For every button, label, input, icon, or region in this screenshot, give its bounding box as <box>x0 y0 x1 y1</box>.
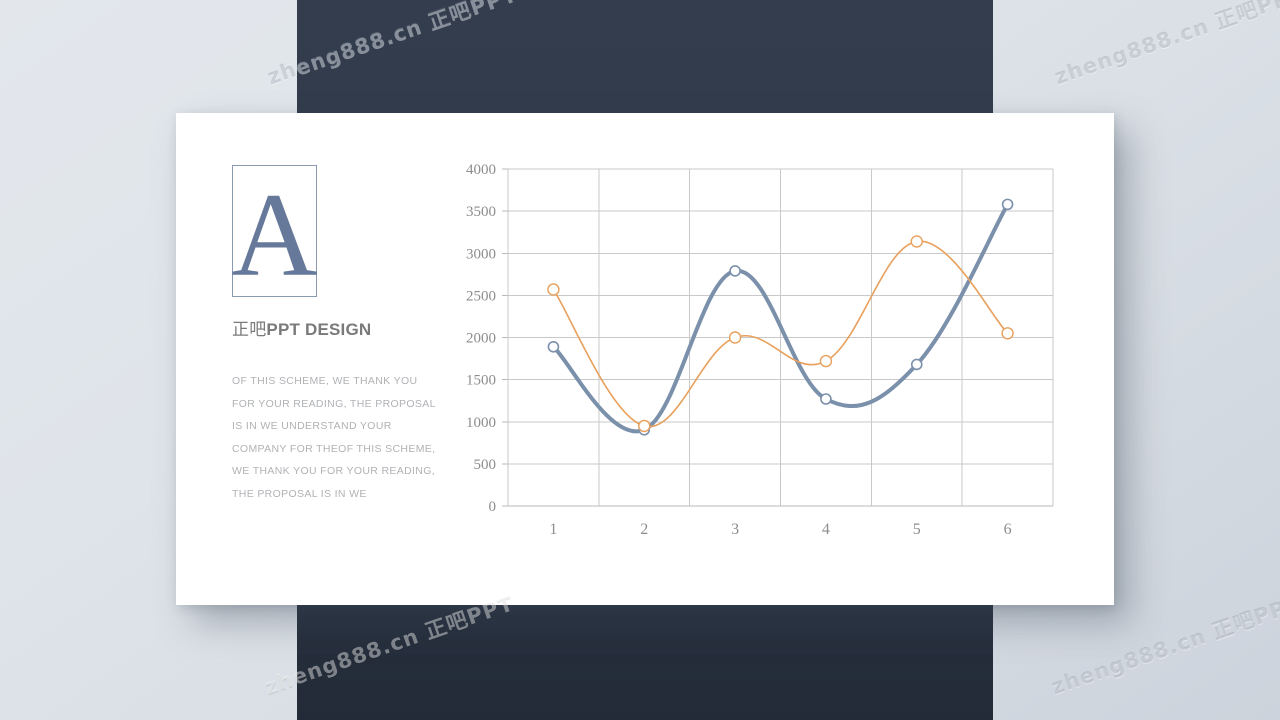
y-tick-label: 1500 <box>466 373 496 389</box>
x-tick-label: 4 <box>822 521 830 538</box>
y-tick-label: 2000 <box>466 331 496 347</box>
slide-canvas: A 正吧PPT DESIGN OF THIS SCHEME, WE THANK … <box>0 0 1280 720</box>
y-tick-label: 3500 <box>466 204 496 220</box>
letter-badge-glyph: A <box>231 175 318 295</box>
data-point-marker <box>730 332 741 343</box>
x-tick-label: 2 <box>640 521 648 538</box>
chart-y-tick-labels: 05001000150020002500300035004000 <box>466 162 496 515</box>
x-tick-label: 1 <box>549 521 557 538</box>
watermark: zheng888.cn 正吧PPT <box>1050 0 1280 91</box>
x-tick-label: 3 <box>731 521 739 538</box>
x-tick-label: 6 <box>1004 521 1012 538</box>
body-paragraph: OF THIS SCHEME, WE THANK YOU FOR YOUR RE… <box>232 370 458 505</box>
x-tick-label: 5 <box>913 521 921 538</box>
y-tick-label: 2500 <box>466 288 496 304</box>
data-point-marker <box>912 359 922 369</box>
brand-title-cjk: 正吧 <box>232 320 266 340</box>
paragraph-line: WE THANK YOU FOR YOUR READING, <box>232 460 458 483</box>
y-tick-label: 4000 <box>466 162 496 178</box>
left-column: A 正吧PPT DESIGN OF THIS SCHEME, WE THANK … <box>228 165 458 565</box>
paragraph-line: COMPANY FOR THEOF THIS SCHEME, <box>232 438 458 461</box>
chart-gridlines <box>508 169 1053 506</box>
brand-title: 正吧PPT DESIGN <box>232 315 458 340</box>
chart-x-tick-labels: 123456 <box>549 521 1011 538</box>
y-tick-label: 1000 <box>466 415 496 431</box>
paragraph-line: IS IN WE UNDERSTAND YOUR <box>232 415 458 438</box>
data-point-marker <box>548 284 559 295</box>
data-point-marker <box>548 342 558 352</box>
data-point-marker <box>821 394 831 404</box>
chart-svg: 05001000150020002500300035004000 123456 <box>456 161 1076 561</box>
y-tick-label: 0 <box>489 499 497 515</box>
letter-badge-box: A <box>232 165 317 297</box>
data-point-marker <box>1002 328 1013 339</box>
data-point-marker <box>730 266 740 276</box>
y-tick-label: 3000 <box>466 246 496 262</box>
line-chart: 05001000150020002500300035004000 123456 <box>456 161 1076 561</box>
data-point-marker <box>1003 199 1013 209</box>
data-point-marker <box>911 236 922 247</box>
data-point-marker <box>639 420 650 431</box>
y-tick-label: 500 <box>474 457 497 473</box>
data-point-marker <box>820 356 831 367</box>
content-card: A 正吧PPT DESIGN OF THIS SCHEME, WE THANK … <box>176 113 1114 605</box>
paragraph-line: THE PROPOSAL IS IN WE <box>232 483 458 506</box>
paragraph-line: FOR YOUR READING, THE PROPOSAL <box>232 393 458 416</box>
paragraph-line: OF THIS SCHEME, WE THANK YOU <box>232 370 458 393</box>
brand-title-latin: PPT DESIGN <box>266 320 371 339</box>
